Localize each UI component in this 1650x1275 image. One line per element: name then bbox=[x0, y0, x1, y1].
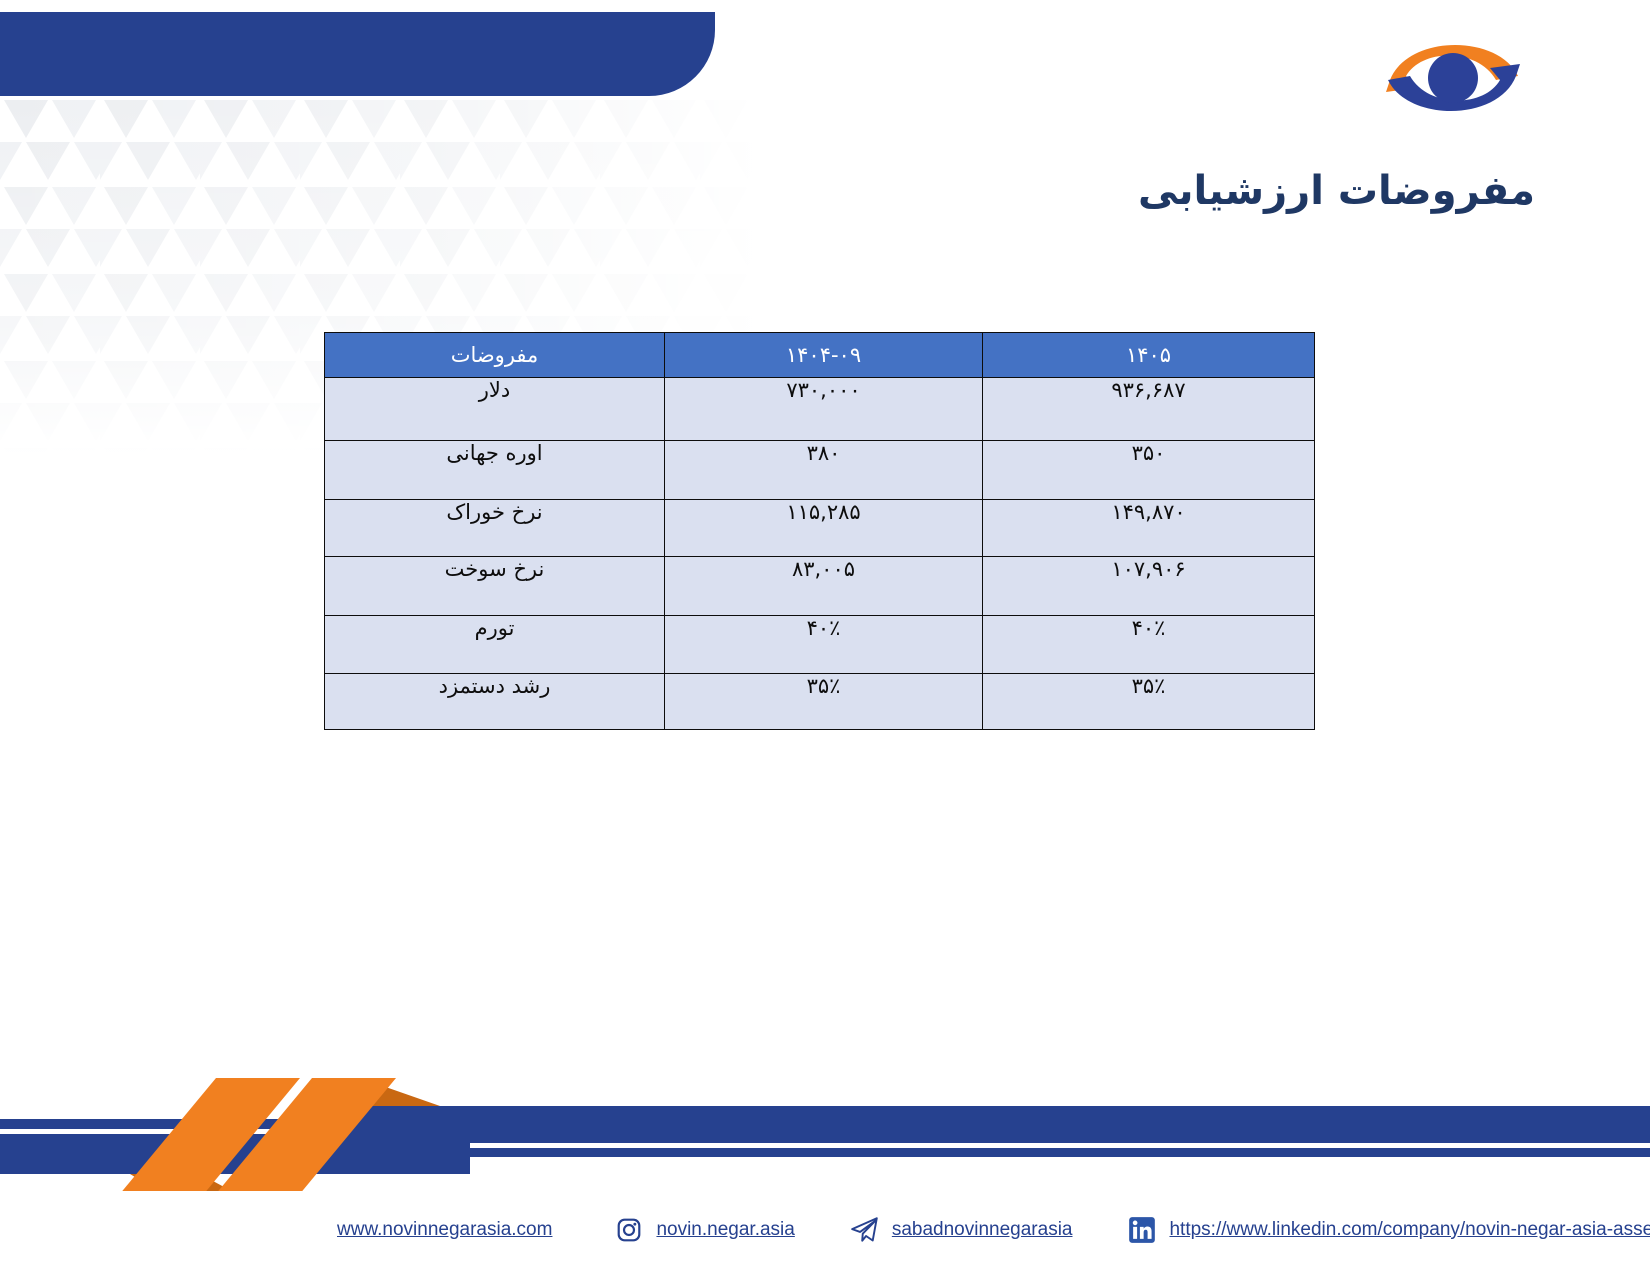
row-label-wage-growth: رشد دستمزد bbox=[325, 674, 665, 730]
assumptions-table-container: ۱۴۰۵ ۱۴۰۴-۰۹ مفروضات ۹۳۶,۶۸۷ ۷۳۰,۰۰۰ دلا… bbox=[325, 332, 1315, 730]
telegram-icon bbox=[850, 1215, 880, 1245]
novin-negar-asia-eye-logo bbox=[1378, 18, 1528, 136]
footer-link-website[interactable]: www.novinnegarasia.com bbox=[295, 1215, 552, 1245]
table-header-row: ۱۴۰۵ ۱۴۰۴-۰۹ مفروضات bbox=[325, 333, 1315, 378]
slide-root: مفروضات ارزشیابی ۱۴۰۵ ۱۴۰۴-۰۹ مفروضات ۹۳… bbox=[0, 0, 1650, 1275]
row-label-fuel-rate: نرخ سوخت bbox=[325, 557, 665, 616]
column-header-1404-09: ۱۴۰۴-۰۹ bbox=[665, 333, 983, 378]
table-row: ۱۰۷,۹۰۶ ۸۳,۰۰۵ نرخ سوخت bbox=[325, 557, 1315, 616]
blue-thin-bar-right bbox=[300, 1148, 1650, 1157]
row-label-inflation: تورم bbox=[325, 616, 665, 674]
row-label-dollar: دلار bbox=[325, 378, 665, 441]
table-row: ۳۵۰ ۳۸۰ اوره جهانی bbox=[325, 441, 1315, 500]
footer-link-website-label: www.novinnegarasia.com bbox=[337, 1219, 552, 1241]
row-label-feedstock-rate: نرخ خوراک bbox=[325, 500, 665, 557]
cell-1405-inflation: ۴۰٪ bbox=[983, 616, 1315, 674]
instagram-icon bbox=[614, 1215, 644, 1245]
table-row: ۹۳۶,۶۸۷ ۷۳۰,۰۰۰ دلار bbox=[325, 378, 1315, 441]
cell-1405-wage-growth: ۳۵٪ bbox=[983, 674, 1315, 730]
cell-1405-dollar: ۹۳۶,۶۸۷ bbox=[983, 378, 1315, 441]
blue-bar-right bbox=[300, 1106, 1650, 1143]
cell-1405-fuel-rate: ۱۰۷,۹۰۶ bbox=[983, 557, 1315, 616]
cell-1404-09-feedstock-rate: ۱۱۵,۲۸۵ bbox=[665, 500, 983, 557]
cell-1404-09-global-urea: ۳۸۰ bbox=[665, 441, 983, 500]
footer-link-linkedin-label: https://www.linkedin.com/company/novin-n… bbox=[1169, 1219, 1650, 1241]
cell-1404-09-inflation: ۴۰٪ bbox=[665, 616, 983, 674]
column-header-1405: ۱۴۰۵ bbox=[983, 333, 1315, 378]
footer-decoration bbox=[0, 1016, 1650, 1191]
page-title: مفروضات ارزشیابی bbox=[1138, 168, 1535, 214]
valuation-assumptions-table: ۱۴۰۵ ۱۴۰۴-۰۹ مفروضات ۹۳۶,۶۸۷ ۷۳۰,۰۰۰ دلا… bbox=[324, 332, 1315, 730]
table-row: ۴۰٪ ۴۰٪ تورم bbox=[325, 616, 1315, 674]
footer-link-telegram[interactable]: sabadnovinnegarasia bbox=[850, 1215, 1073, 1245]
row-label-global-urea: اوره جهانی bbox=[325, 441, 665, 500]
linkedin-icon bbox=[1127, 1215, 1157, 1245]
column-header-assumptions: مفروضات bbox=[325, 333, 665, 378]
cell-1404-09-fuel-rate: ۸۳,۰۰۵ bbox=[665, 557, 983, 616]
footer-link-instagram[interactable]: novin.negar.asia bbox=[614, 1215, 794, 1245]
table-row: ۱۴۹,۸۷۰ ۱۱۵,۲۸۵ نرخ خوراک bbox=[325, 500, 1315, 557]
footer-link-instagram-label: novin.negar.asia bbox=[656, 1219, 794, 1241]
globe-icon bbox=[295, 1215, 325, 1245]
footer-links: www.novinnegarasia.com novin.negar.asia … bbox=[0, 1207, 1650, 1253]
footer-link-linkedin[interactable]: https://www.linkedin.com/company/novin-n… bbox=[1127, 1215, 1650, 1245]
cell-1404-09-dollar: ۷۳۰,۰۰۰ bbox=[665, 378, 983, 441]
table-row: ۳۵٪ ۳۵٪ رشد دستمزد bbox=[325, 674, 1315, 730]
footer-link-telegram-label: sabadnovinnegarasia bbox=[892, 1219, 1073, 1241]
cell-1405-global-urea: ۳۵۰ bbox=[983, 441, 1315, 500]
cell-1404-09-wage-growth: ۳۵٪ bbox=[665, 674, 983, 730]
cell-1405-feedstock-rate: ۱۴۹,۸۷۰ bbox=[983, 500, 1315, 557]
header-banner bbox=[0, 12, 715, 96]
